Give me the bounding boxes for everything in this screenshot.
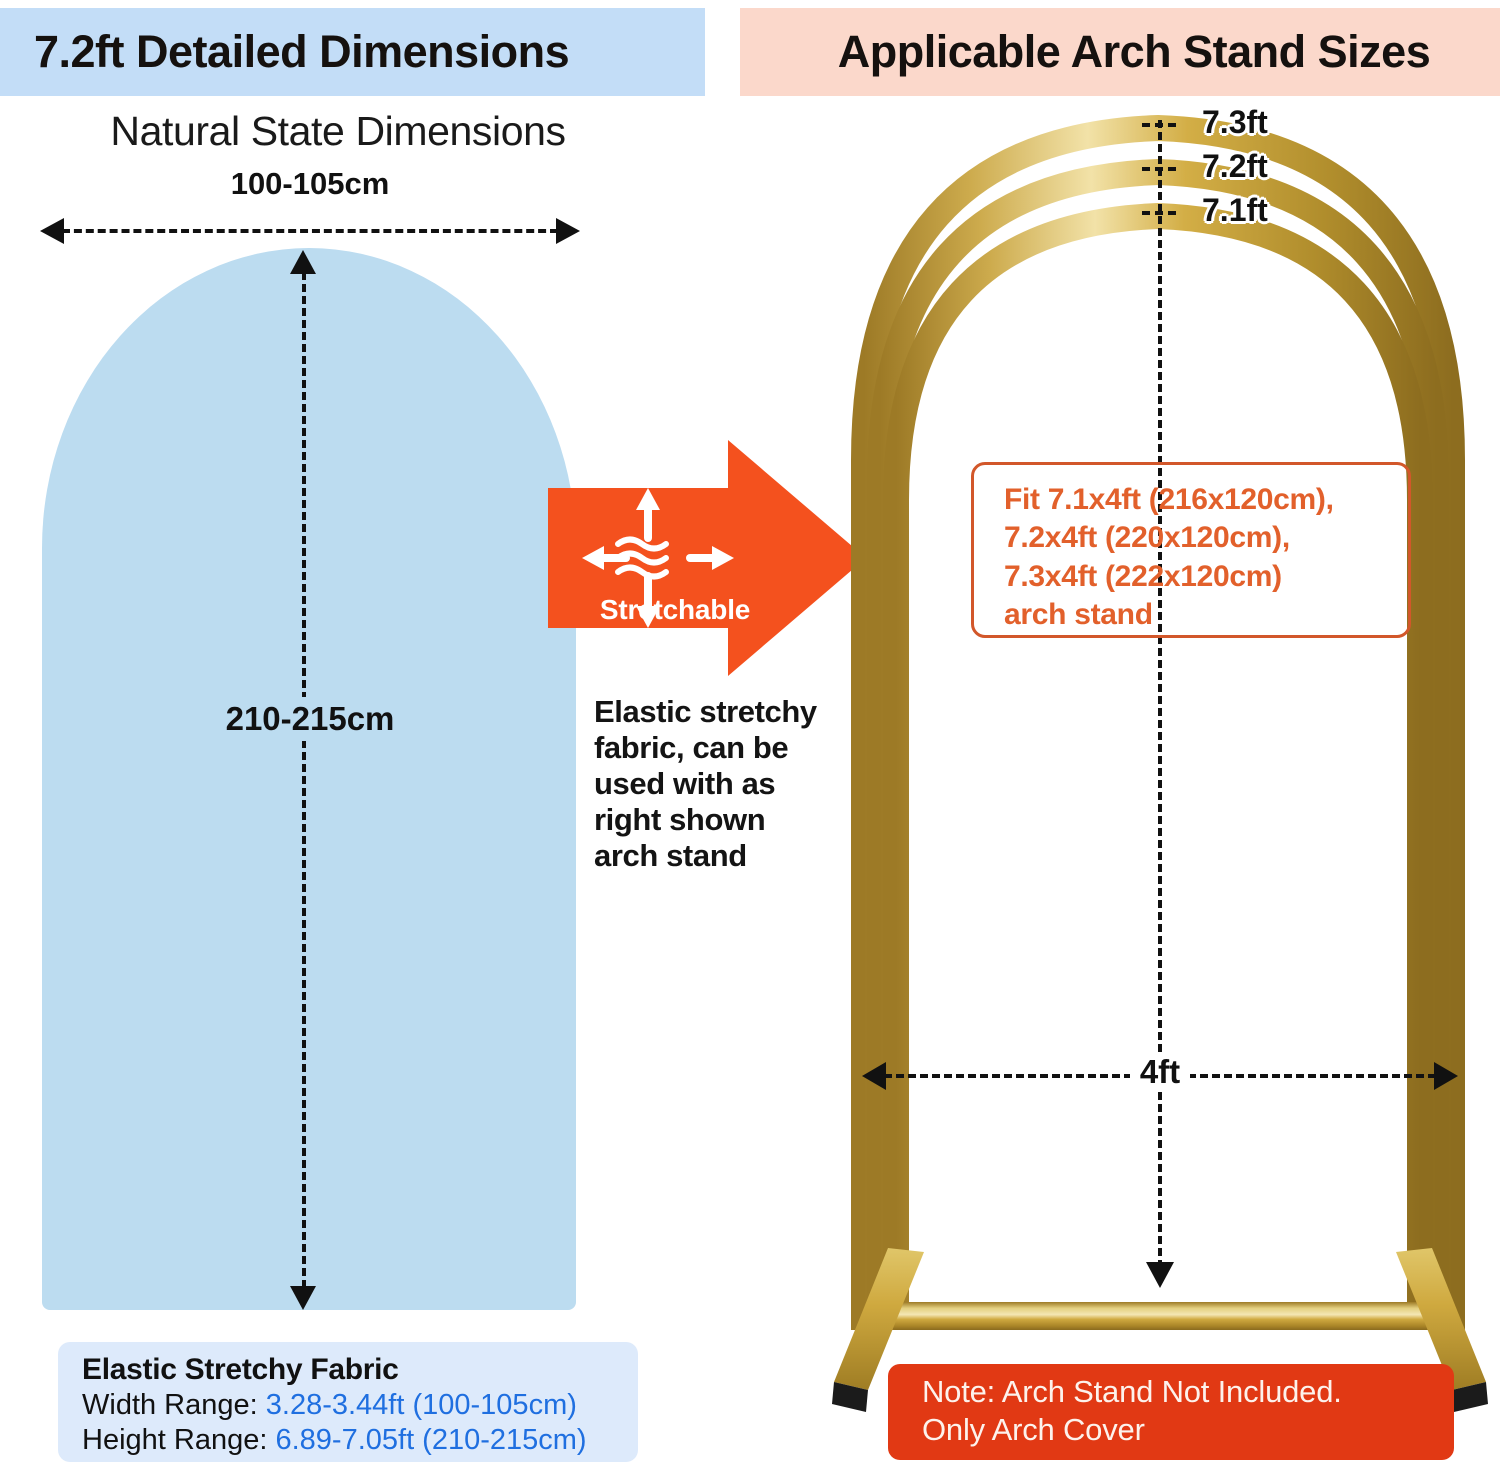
- arch-label-73ft: 7.3ft: [1202, 104, 1268, 141]
- fabric-spec-width-row: Width Range: 3.28-3.44ft (100-105cm): [82, 1389, 638, 1422]
- arrow-up-icon: [290, 250, 316, 274]
- arrow-left-icon: [862, 1062, 886, 1090]
- stretchable-label: Stretchable: [560, 594, 790, 626]
- header-left-band: 7.2ft Detailed Dimensions: [0, 8, 705, 96]
- fit-sizes-line: 7.2x4ft (220x120cm),: [1004, 519, 1408, 557]
- fabric-spec-height-value: 6.89-7.05ft (210-215cm): [275, 1424, 586, 1456]
- arrow-down-icon: [1146, 1262, 1174, 1288]
- note-box: Note: Arch Stand Not Included. Only Arch…: [888, 1364, 1454, 1460]
- arch-base-crossbar: [882, 1302, 1438, 1330]
- dashed-line: [1188, 1074, 1436, 1078]
- arch-centerline: [1158, 120, 1162, 1280]
- arch-label-72ft: 7.2ft: [1202, 148, 1268, 185]
- fabric-spec-title: Elastic Stretchy Fabric: [82, 1353, 638, 1387]
- fabric-spec-height-label: Height Range:: [82, 1424, 267, 1456]
- fabric-spec-box: Elastic Stretchy Fabric Width Range: 3.2…: [58, 1342, 638, 1462]
- fabric-spec-width-label: Width Range:: [82, 1389, 258, 1421]
- dashed-line: [884, 1074, 1132, 1078]
- arch-label-71ft: 7.1ft: [1202, 192, 1268, 229]
- header-left-title: 7.2ft Detailed Dimensions: [34, 26, 569, 78]
- arrow-right-icon: [556, 218, 580, 244]
- fit-sizes-line: Fit 7.1x4ft (216x120cm),: [1004, 481, 1408, 519]
- note-line: Only Arch Cover: [922, 1411, 1454, 1449]
- fabric-width-dimension-line: [40, 215, 580, 245]
- fit-sizes-box: Fit 7.1x4ft (216x120cm), 7.2x4ft (220x12…: [971, 462, 1411, 638]
- fabric-width-dimension-label: 100-105cm: [40, 166, 580, 202]
- infographic-canvas: 7.2ft Detailed Dimensions Applicable Arc…: [0, 0, 1500, 1475]
- arrow-down-icon: [290, 1286, 316, 1310]
- header-right-title: Applicable Arch Stand Sizes: [838, 26, 1430, 78]
- fabric-height-dimension-label: 210-215cm: [150, 697, 470, 741]
- note-line: Note: Arch Stand Not Included.: [922, 1373, 1454, 1411]
- dashed-line: [62, 229, 558, 233]
- fit-sizes-line: 7.3x4ft (222x120cm): [1004, 558, 1408, 596]
- header-right-band: Applicable Arch Stand Sizes: [740, 8, 1500, 96]
- dashed-line: [302, 272, 306, 1288]
- fabric-height-dimension-line: [288, 250, 320, 1310]
- arch-width-dimension-label: 4ft: [1130, 1053, 1190, 1091]
- natural-state-subtitle: Natural State Dimensions: [58, 108, 618, 155]
- arrow-left-icon: [40, 218, 64, 244]
- fit-sizes-line: arch stand: [1004, 596, 1408, 634]
- fabric-spec-height-row: Height Range: 6.89-7.05ft (210-215cm): [82, 1424, 638, 1457]
- arrow-right-icon: [1434, 1062, 1458, 1090]
- fabric-spec-width-value: 3.28-3.44ft (100-105cm): [266, 1389, 577, 1421]
